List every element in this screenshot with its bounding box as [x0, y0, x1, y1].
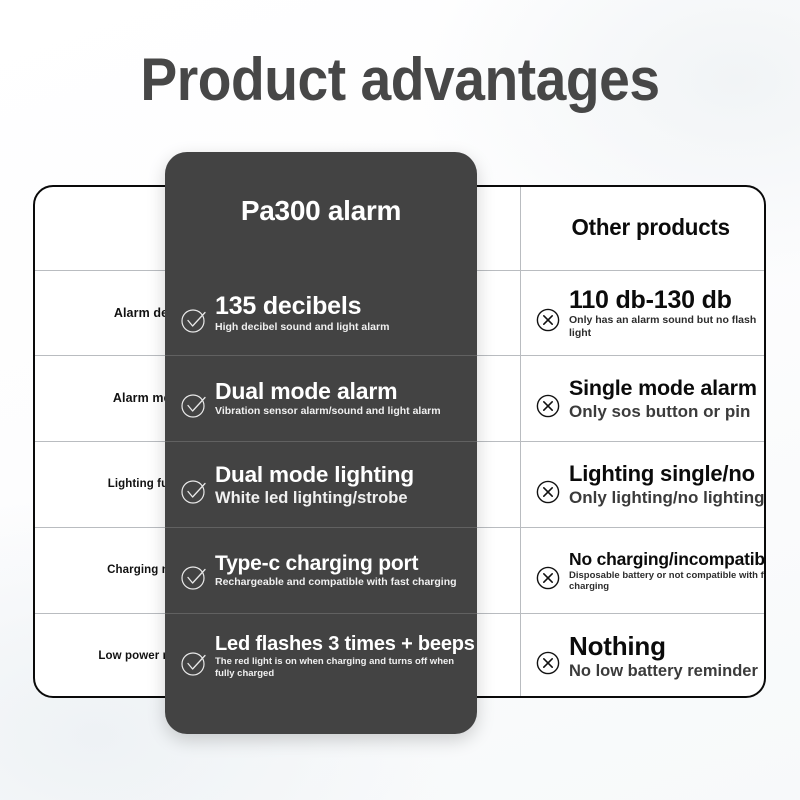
- product-row-title: Type-c charging port: [215, 551, 469, 576]
- product-row: 135 decibels High decibel sound and ligh…: [165, 270, 477, 355]
- product-row: Type-c charging port Rechargeable and co…: [165, 527, 477, 613]
- x-circle-icon: [535, 650, 561, 676]
- x-circle-icon: [535, 307, 561, 333]
- row-other-title: Lighting single/no: [569, 461, 766, 487]
- header-other-label: Other products: [571, 214, 729, 241]
- row-other-title: Single mode alarm: [569, 376, 766, 401]
- row-other-subtitle: Disposable battery or not compatible wit…: [569, 570, 766, 593]
- row-other-cell: Single mode alarm Only sos button or pin: [521, 356, 766, 441]
- check-circle-icon: [179, 390, 209, 420]
- product-row: Dual mode lighting White led lighting/st…: [165, 441, 477, 527]
- x-circle-icon: [535, 479, 561, 505]
- row-other-cell: Lighting single/no Only lighting/no ligh…: [521, 442, 766, 527]
- check-circle-icon: [179, 476, 209, 506]
- product-row-subtitle: White led lighting/strobe: [215, 488, 469, 508]
- product-column-title: Pa300 alarm: [241, 195, 401, 227]
- product-row: Led flashes 3 times + beeps The red ligh…: [165, 613, 477, 698]
- product-row-title: Dual mode alarm: [215, 378, 469, 405]
- row-other-subtitle: Only lighting/no lighting: [569, 487, 766, 508]
- product-row-title: Dual mode lighting: [215, 461, 469, 488]
- row-other-cell: Nothing No low battery reminder: [521, 614, 766, 698]
- row-other-title: No charging/incompatibility: [569, 549, 766, 570]
- row-other-cell: 110 db-130 db Only has an alarm sound bu…: [521, 271, 766, 355]
- check-circle-icon: [179, 305, 209, 335]
- highlight-product-column: Pa300 alarm 135 decibels High decibel so…: [165, 152, 477, 734]
- x-circle-icon: [535, 393, 561, 419]
- product-row-title: Led flashes 3 times + beeps: [215, 632, 469, 656]
- product-row-subtitle: Vibration sensor alarm/sound and light a…: [215, 405, 469, 418]
- product-row-title: 135 decibels: [215, 292, 469, 321]
- check-circle-icon: [179, 648, 209, 678]
- check-circle-icon: [179, 562, 209, 592]
- row-other-title: Nothing: [569, 631, 766, 661]
- row-other-subtitle: No low battery reminder: [569, 661, 766, 681]
- row-other-title: 110 db-130 db: [569, 286, 766, 314]
- row-other-cell: No charging/incompatibility Disposable b…: [521, 528, 766, 613]
- product-row-subtitle: Rechargeable and compatible with fast ch…: [215, 576, 469, 589]
- product-column-header: Pa300 alarm: [165, 152, 477, 270]
- product-row-subtitle: The red light is on when charging and tu…: [215, 656, 469, 679]
- x-circle-icon: [535, 565, 561, 591]
- row-other-subtitle: Only sos button or pin: [569, 401, 766, 422]
- header-other-cell: Other products: [521, 185, 766, 270]
- infographic-page: Product advantages Other products Alarm …: [0, 0, 800, 800]
- page-title: Product advantages: [32, 44, 768, 116]
- product-row-subtitle: High decibel sound and light alarm: [215, 321, 469, 334]
- row-other-subtitle: Only has an alarm sound but no flash lig…: [569, 314, 766, 340]
- product-row: Dual mode alarm Vibration sensor alarm/s…: [165, 355, 477, 441]
